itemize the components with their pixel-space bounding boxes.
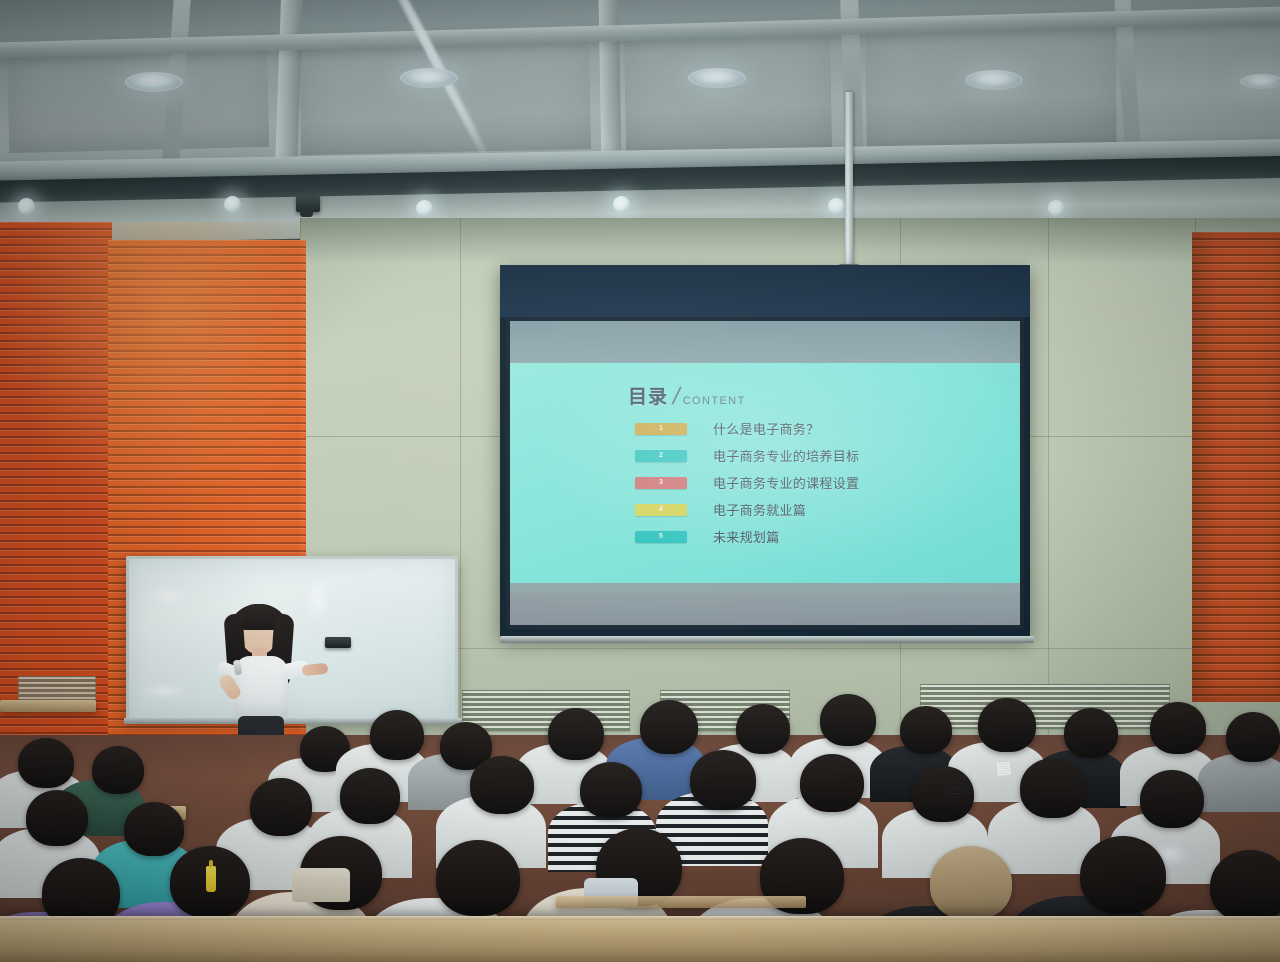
ceiling-coffer bbox=[624, 28, 832, 152]
ceiling-spotlight bbox=[416, 200, 433, 217]
audience-head bbox=[820, 694, 876, 746]
audience-head bbox=[124, 802, 184, 856]
audience-head bbox=[26, 790, 88, 846]
security-camera-icon bbox=[296, 196, 320, 212]
audience-head bbox=[1020, 758, 1086, 818]
audience-head bbox=[580, 762, 642, 818]
toc-item: 1 什么是电子商务？ bbox=[635, 415, 965, 442]
lecture-hall-photo: 目录 / CONTENT 1 什么是电子商务？ bbox=[0, 0, 1280, 962]
audience-head bbox=[1064, 708, 1118, 758]
audience-head bbox=[690, 750, 756, 810]
slide-title: 目录 / CONTENT bbox=[628, 381, 746, 409]
toc-item: 2 电子商务专业的培养目标 bbox=[635, 442, 965, 469]
projection-screen: 目录 / CONTENT 1 什么是电子商务？ bbox=[500, 265, 1030, 637]
bag bbox=[292, 868, 350, 902]
audience-head bbox=[1226, 712, 1280, 762]
projector-mount-pole bbox=[845, 92, 853, 282]
recessed-downlight bbox=[400, 68, 458, 88]
audience-head bbox=[1150, 702, 1206, 754]
wall-shading bbox=[300, 218, 1280, 264]
toc-number: 1 bbox=[635, 423, 687, 435]
recessed-downlight bbox=[1240, 74, 1280, 89]
recessed-downlight bbox=[965, 70, 1023, 90]
ceiling-spotlight bbox=[1048, 200, 1065, 217]
toc-number: 4 bbox=[635, 504, 687, 516]
toc-number: 2 bbox=[635, 450, 687, 462]
toc-item: 3 电子商务专业的课程设置 bbox=[635, 469, 965, 496]
slide-title-separator: / bbox=[670, 383, 683, 411]
toc-chip: 1 bbox=[635, 423, 687, 435]
audience-head bbox=[340, 768, 400, 824]
audience-head bbox=[92, 746, 144, 794]
audience-head bbox=[548, 708, 604, 760]
water-bottle bbox=[206, 866, 216, 892]
audience-head bbox=[912, 766, 974, 822]
toc-label: 未来规划篇 bbox=[713, 527, 780, 546]
presentation-slide: 目录 / CONTENT 1 什么是电子商务？ bbox=[510, 363, 1020, 591]
toc-label: 什么是电子商务？ bbox=[713, 419, 819, 438]
toc-label: 电子商务就业篇 bbox=[713, 500, 806, 519]
toc-chip: 5 bbox=[635, 531, 687, 543]
screen-surface: 目录 / CONTENT 1 什么是电子商务？ bbox=[510, 321, 1020, 625]
audience-head bbox=[978, 698, 1036, 752]
screen-weight-bar bbox=[500, 636, 1034, 643]
toc-chip: 2 bbox=[635, 450, 687, 462]
audience-head bbox=[736, 704, 790, 754]
audience-head bbox=[370, 710, 424, 760]
orange-slat-wall-right bbox=[1192, 232, 1280, 702]
toc-chip: 4 bbox=[635, 504, 687, 516]
audience-head bbox=[1140, 770, 1204, 828]
whiteboard-glare bbox=[147, 585, 189, 607]
audience-head bbox=[250, 778, 312, 836]
front-desk-surface bbox=[0, 916, 1280, 962]
audience-head bbox=[1210, 850, 1280, 922]
audience-head bbox=[470, 756, 534, 814]
screen-frame: 目录 / CONTENT 1 什么是电子商务？ bbox=[506, 317, 1024, 629]
toc-label: 电子商务专业的课程设置 bbox=[713, 473, 859, 492]
audience-head bbox=[436, 840, 520, 916]
slide-title-en: CONTENT bbox=[683, 395, 746, 407]
ceiling-spotlight bbox=[613, 196, 630, 213]
desk bbox=[556, 896, 806, 908]
audience-head bbox=[900, 706, 952, 754]
ceiling-coffer bbox=[299, 33, 591, 155]
screen-lower-band bbox=[510, 583, 1020, 625]
recessed-downlight bbox=[688, 68, 746, 88]
audience-head bbox=[800, 754, 864, 812]
toc-number: 3 bbox=[635, 477, 687, 489]
toc-item: 4 电子商务就业篇 bbox=[635, 496, 965, 523]
screen-top-dark-band bbox=[500, 265, 1030, 317]
slide-toc-list: 1 什么是电子商务？ 2 电子商务专业的培养目标 3 bbox=[635, 415, 965, 550]
toc-chip: 3 bbox=[635, 477, 687, 489]
ceiling-spotlight bbox=[224, 196, 241, 213]
toc-item: 5 未来规划篇 bbox=[635, 523, 965, 550]
whiteboard-eraser bbox=[325, 637, 351, 648]
audience-head bbox=[640, 700, 698, 754]
screen-upper-band bbox=[510, 321, 1020, 363]
toc-number: 5 bbox=[635, 531, 687, 543]
ceiling-spotlight bbox=[828, 198, 845, 215]
ceiling-spotlight bbox=[18, 198, 35, 215]
recessed-downlight bbox=[125, 72, 183, 92]
glasses-icon bbox=[944, 788, 966, 794]
shirt-graphic: ▤ bbox=[995, 757, 1012, 778]
audience-head-blonde bbox=[930, 846, 1012, 920]
audience-head bbox=[18, 738, 74, 788]
slide-title-cn: 目录 bbox=[628, 382, 668, 409]
audience-shoulders bbox=[1198, 754, 1280, 812]
toc-label: 电子商务专业的培养目标 bbox=[713, 446, 859, 465]
audience-head bbox=[1080, 836, 1166, 914]
